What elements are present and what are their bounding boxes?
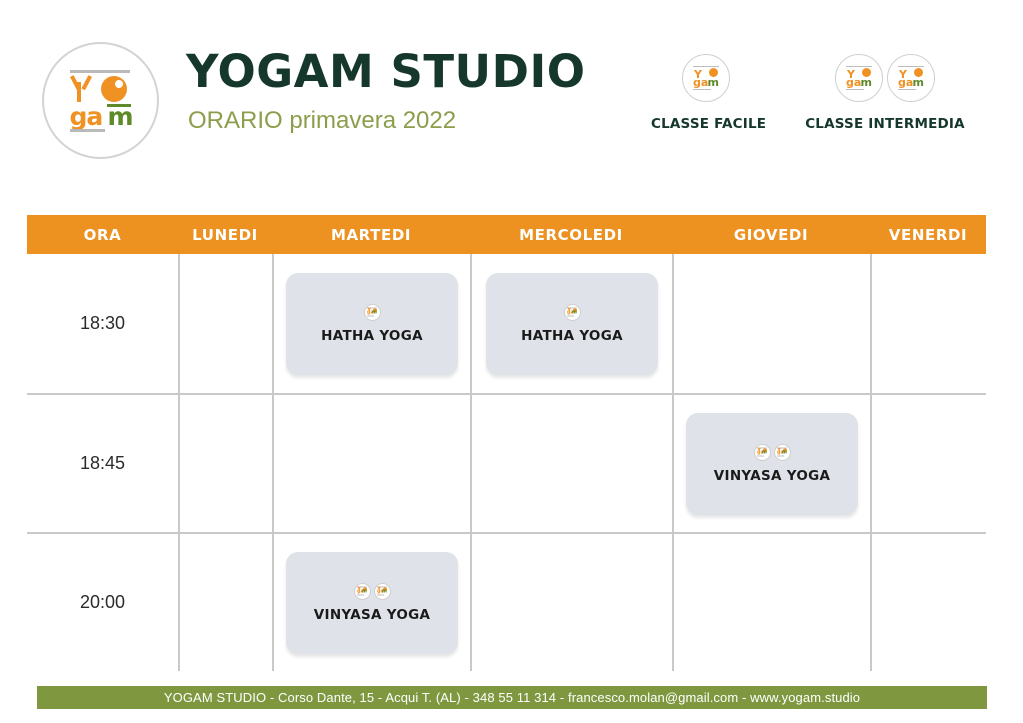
logo-m-text: m: [108, 104, 133, 129]
legend-item-classe-facile: Y ga m CLASSE FACILE: [651, 54, 761, 132]
badge-bottom-rule: [377, 595, 384, 596]
logo-y-arms: [70, 77, 94, 103]
logo-ga-text: ga: [70, 104, 103, 129]
legend: Y ga m CLASSE FACILE Y ga: [630, 50, 1010, 150]
logo-sun-highlight: [115, 80, 123, 88]
page-header: ga m YOGAM STUDIO ORARIO primavera 2022 …: [0, 0, 1023, 195]
logo-sun-icon: [101, 76, 127, 102]
footer-contact-text: YOGAM STUDIO - Corso Dante, 15 - Acqui T…: [164, 690, 860, 705]
legend-item-classe-intermedia: Y ga m Y ga m: [785, 54, 985, 132]
yogam-badge-icon: Y ga m: [682, 54, 730, 102]
badge-ga-text: ga: [846, 77, 861, 88]
badge-mark: Y ga m: [693, 66, 719, 90]
schedule-cell-mercoledi[interactable]: [470, 534, 672, 671]
class-card[interactable]: Y ga m Y ga: [286, 552, 458, 654]
class-card[interactable]: Y ga m HATHA YOGA: [486, 273, 658, 375]
yogam-badge-icon: Y ga m: [835, 54, 883, 102]
yogam-badge-icon: Y ga m: [754, 444, 771, 461]
schedule-cell-lunedi[interactable]: [178, 534, 272, 671]
schedule-cell-martedi[interactable]: [272, 395, 470, 532]
title-block: YOGAM STUDIO ORARIO primavera 2022: [186, 48, 585, 134]
schedule-cell-martedi[interactable]: Y ga m HATHA YOGA: [272, 254, 470, 393]
legend-badges-facile: Y ga m: [651, 54, 761, 102]
badge-m-text: m: [861, 77, 872, 88]
class-name: HATHA YOGA: [521, 328, 623, 344]
class-name: VINYASA YOGA: [714, 468, 830, 484]
badge-bottom-rule: [846, 89, 864, 90]
schedule-table: ORA LUNEDI MARTEDI MERCOLEDI GIOVEDI VEN…: [27, 215, 986, 671]
logo-top-rule: [70, 70, 130, 73]
page-title: YOGAM STUDIO: [186, 48, 585, 96]
column-header-lunedi: LUNEDI: [178, 215, 272, 254]
badge-mark: Y ga m: [898, 66, 924, 90]
schedule-row: 18:30 Y ga m: [27, 254, 986, 393]
schedule-cell-giovedi[interactable]: Y ga m Y ga: [672, 395, 870, 532]
class-name: HATHA YOGA: [321, 328, 423, 344]
time-label: 18:30: [27, 254, 178, 393]
yogam-badge-icon: Y ga m: [374, 583, 391, 600]
yogam-badge-icon: Y ga m: [774, 444, 791, 461]
legend-label-intermedia: CLASSE INTERMEDIA: [785, 116, 985, 132]
schedule-cell-martedi[interactable]: Y ga m Y ga: [272, 534, 470, 671]
logo-mark: ga m: [68, 70, 134, 132]
schedule-cell-giovedi[interactable]: [672, 254, 870, 393]
badge-m-text: m: [708, 77, 719, 88]
yogam-badge-icon: Y ga m: [564, 304, 581, 321]
class-level-badges: Y ga m: [364, 304, 381, 321]
time-label: 20:00: [27, 534, 178, 671]
badge-mark: Y ga m: [377, 587, 387, 596]
schedule-row: 18:45 Y ga m: [27, 393, 986, 532]
badge-ga-text: ga: [693, 77, 708, 88]
schedule-cell-mercoledi[interactable]: Y ga m HATHA YOGA: [470, 254, 672, 393]
badge-top-rule: [693, 66, 719, 67]
schedule-cell-venerdi[interactable]: [870, 254, 986, 393]
legend-badges-intermedia: Y ga m Y ga m: [785, 54, 985, 102]
schedule-cell-lunedi[interactable]: [178, 395, 272, 532]
class-level-badges: Y ga m Y ga: [754, 444, 791, 461]
badge-mark: Y ga m: [757, 448, 767, 457]
column-header-ora: ORA: [27, 215, 178, 254]
schedule-row: 20:00 Y ga m: [27, 532, 986, 671]
badge-bottom-rule: [693, 89, 711, 90]
class-level-badges: Y ga m Y ga: [354, 583, 391, 600]
column-header-giovedi: GIOVEDI: [672, 215, 870, 254]
badge-top-rule: [846, 66, 872, 67]
badge-bottom-rule: [357, 595, 364, 596]
badge-top-rule: [898, 66, 924, 67]
badge-bottom-rule: [898, 89, 916, 90]
badge-mark: Y ga m: [567, 308, 577, 317]
schedule-header-row: ORA LUNEDI MARTEDI MERCOLEDI GIOVEDI VEN…: [27, 215, 986, 254]
schedule-cell-mercoledi[interactable]: [470, 395, 672, 532]
class-card[interactable]: Y ga m HATHA YOGA: [286, 273, 458, 375]
column-header-venerdi: VENERDI: [870, 215, 986, 254]
badge-mark: Y ga m: [846, 66, 872, 90]
page-subtitle: ORARIO primavera 2022: [188, 108, 585, 134]
time-label: 18:45: [27, 395, 178, 532]
column-header-mercoledi: MERCOLEDI: [470, 215, 672, 254]
badge-bottom-rule: [757, 456, 764, 457]
badge-bottom-rule: [367, 316, 374, 317]
logo-y-stem: [77, 82, 81, 102]
schedule-cell-venerdi[interactable]: [870, 395, 986, 532]
logo-bottom-rule: [70, 129, 105, 132]
yogam-logo-icon: ga m: [42, 42, 159, 159]
badge-mark: Y ga m: [777, 448, 787, 457]
schedule-body: 18:30 Y ga m: [27, 254, 986, 671]
class-level-badges: Y ga m: [564, 304, 581, 321]
class-name: VINYASA YOGA: [314, 607, 430, 623]
yogam-badge-icon: Y ga m: [887, 54, 935, 102]
yogam-badge-icon: Y ga m: [354, 583, 371, 600]
column-header-martedi: MARTEDI: [272, 215, 470, 254]
yogam-badge-icon: Y ga m: [364, 304, 381, 321]
badge-mark: Y ga m: [367, 308, 377, 317]
badge-bottom-rule: [777, 456, 784, 457]
schedule-cell-lunedi[interactable]: [178, 254, 272, 393]
badge-bottom-rule: [567, 316, 574, 317]
page-footer: YOGAM STUDIO - Corso Dante, 15 - Acqui T…: [37, 686, 987, 709]
badge-mark: Y ga m: [357, 587, 367, 596]
schedule-cell-venerdi[interactable]: [870, 534, 986, 671]
schedule-cell-giovedi[interactable]: [672, 534, 870, 671]
legend-label-facile: CLASSE FACILE: [651, 116, 761, 132]
badge-m-text: m: [913, 77, 924, 88]
badge-ga-text: ga: [898, 77, 913, 88]
class-card[interactable]: Y ga m Y ga: [686, 413, 858, 515]
